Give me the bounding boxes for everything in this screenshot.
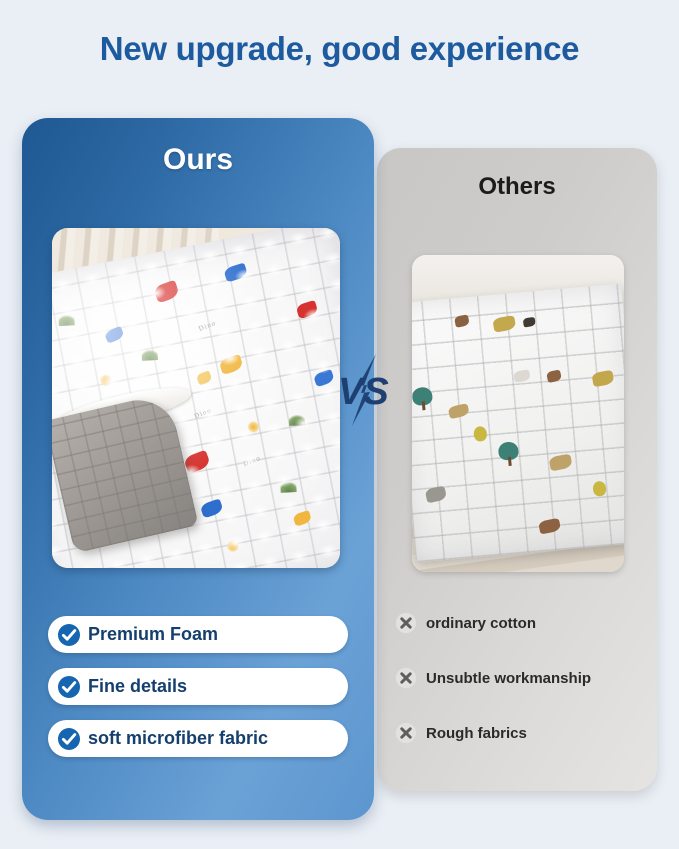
animal-motif-brown-2 xyxy=(545,369,561,383)
check-circle-icon xyxy=(57,623,81,647)
others-drawback-list: ordinary cotton Unsubtle workmanship Rou… xyxy=(395,610,645,746)
dino-text-motif: Dino xyxy=(193,407,213,421)
animal-motif-tan-4 xyxy=(548,454,572,472)
dino-motif-red-3 xyxy=(183,450,211,474)
drawback-label: ordinary cotton xyxy=(426,615,536,632)
ours-panel: Ours xyxy=(22,118,374,820)
animal-motif-fox xyxy=(537,518,560,535)
animal-motif-dark xyxy=(522,317,535,328)
others-panel-title: Others xyxy=(377,173,657,201)
ours-feature-list: Premium Foam Fine details soft microfibe… xyxy=(48,616,348,757)
feature-pill-fine-details[interactable]: Fine details xyxy=(48,668,348,705)
dino-motif-yellow-2 xyxy=(196,371,213,386)
ours-panel-title: Ours xyxy=(22,143,374,177)
palm-leaf-motif xyxy=(142,347,159,361)
animal-motif-tan xyxy=(492,315,516,333)
dino-motif-blue xyxy=(223,263,248,283)
dino-motif-red xyxy=(154,280,181,304)
page-title: New upgrade, good experience xyxy=(0,30,679,68)
tree-motif xyxy=(412,386,433,406)
animal-motif-brown xyxy=(453,315,469,328)
drawback-row-ordinary-cotton[interactable]: ordinary cotton xyxy=(395,610,645,636)
animal-motif-tan-3 xyxy=(447,403,469,419)
tree-motif-2 xyxy=(497,441,518,461)
drawback-label: Rough fabrics xyxy=(426,725,527,742)
balloon-motif xyxy=(472,426,486,442)
feature-pill-premium-foam[interactable]: Premium Foam xyxy=(48,616,348,653)
palm-leaf-motif-5 xyxy=(280,479,297,493)
balloon-motif-2 xyxy=(592,481,606,497)
sun-motif xyxy=(99,373,113,387)
quilted-pad-others xyxy=(412,284,624,563)
x-circle-icon xyxy=(395,722,417,744)
animal-motif-tan-2 xyxy=(591,370,614,387)
dino-motif-blue-5 xyxy=(200,498,224,518)
x-circle-icon xyxy=(395,667,417,689)
dino-motif-blue-2 xyxy=(104,326,125,344)
dino-text-motif-3: Dino xyxy=(242,455,262,469)
sun-motif-3 xyxy=(226,540,240,554)
animal-motif-gray xyxy=(424,486,446,504)
feature-pill-label: soft microfiber fabric xyxy=(88,728,268,749)
check-circle-icon xyxy=(57,675,81,699)
sun-motif-2 xyxy=(246,420,260,434)
dino-motif-blue-4 xyxy=(313,369,335,387)
others-product-photo xyxy=(412,255,624,572)
palm-leaf-motif-3 xyxy=(289,412,306,426)
dino-motif-red-2 xyxy=(296,300,319,319)
check-circle-icon xyxy=(57,727,81,751)
dino-motif-yellow xyxy=(219,354,245,375)
dino-motif-yellow-4 xyxy=(293,510,313,527)
drawback-row-rough-fabrics[interactable]: Rough fabrics xyxy=(395,720,645,746)
vs-badge: VS xyxy=(336,352,406,428)
feature-pill-soft-microfiber-fabric[interactable]: soft microfiber fabric xyxy=(48,720,348,757)
vs-badge-label: VS xyxy=(338,371,389,413)
drawback-label: Unsubtle workmanship xyxy=(426,670,591,687)
dino-text-motif-4: Dino xyxy=(198,319,218,333)
others-panel: Others xyxy=(377,148,657,791)
drawback-row-unsubtle-workmanship[interactable]: Unsubtle workmanship xyxy=(395,665,645,691)
animal-motif-white xyxy=(513,369,531,383)
feature-pill-label: Premium Foam xyxy=(88,624,218,645)
feature-pill-label: Fine details xyxy=(88,676,187,697)
palm-leaf-motif-2 xyxy=(59,313,76,327)
ours-product-photo: Dino Dino Dino Dino xyxy=(52,228,340,568)
x-circle-icon xyxy=(395,612,417,634)
